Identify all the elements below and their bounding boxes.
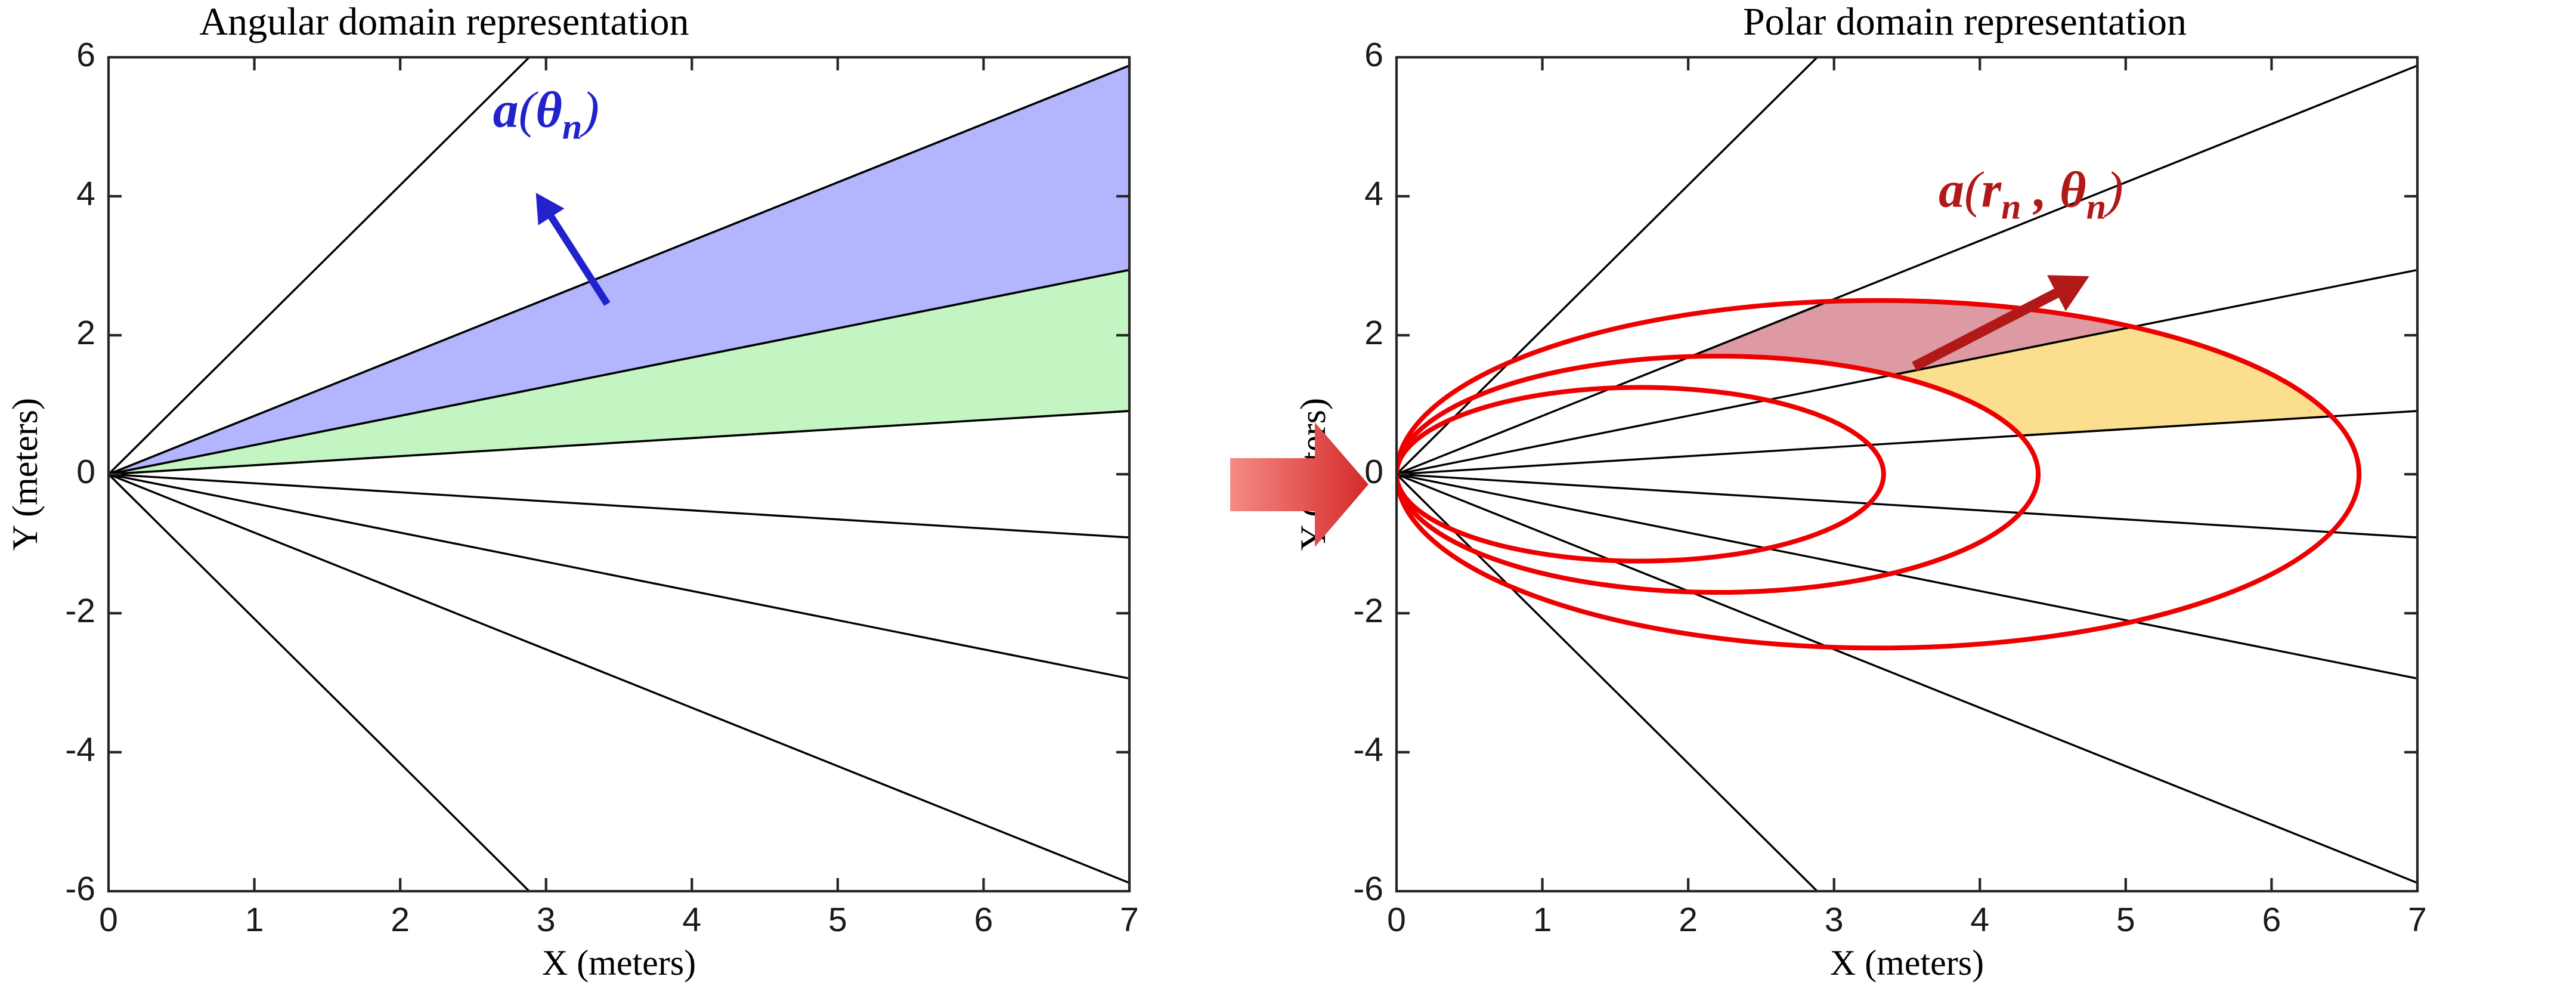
x-tick-label-6: 6 xyxy=(2262,901,2281,939)
x-tick-label-1: 1 xyxy=(1533,901,1552,939)
x-tick-label-4: 4 xyxy=(682,901,701,939)
x-tick-label-3: 3 xyxy=(1825,901,1844,939)
y-tick-label-4: 2 xyxy=(76,314,95,352)
x-tick-label-5: 5 xyxy=(2116,901,2135,939)
y-tick-label-5: 4 xyxy=(76,175,95,213)
polar-domain-plot: Polar domain representation 01234567-6-4… xyxy=(1288,0,2576,995)
ray-7 xyxy=(1397,474,1817,891)
ray-7 xyxy=(109,474,529,891)
ray-6 xyxy=(109,474,1129,883)
x-tick-label-7: 7 xyxy=(2408,901,2427,939)
polar-steering-vector-label: a(rn , θn) xyxy=(1939,160,2123,226)
angular-domain-plot: Angular domain representation 01234567-6… xyxy=(0,0,1288,995)
ray-0 xyxy=(1397,57,1817,474)
angular-steering-vector-label: a(θn) xyxy=(493,81,599,147)
y-tick-label-1: -4 xyxy=(1353,731,1383,769)
y-tick-label-6: 6 xyxy=(1364,36,1383,74)
y-tick-label-1: -4 xyxy=(65,731,95,769)
x-tick-label-0: 0 xyxy=(99,901,118,939)
figure-root: Angular domain representation 01234567-6… xyxy=(0,0,2576,995)
transition-arrow xyxy=(1225,418,1371,552)
range-ring-0 xyxy=(1397,387,1884,561)
x-axis-title: X (meters) xyxy=(542,943,696,982)
x-tick-label-4: 4 xyxy=(1970,901,1989,939)
y-tick-label-5: 4 xyxy=(1364,175,1383,213)
plot-area xyxy=(109,57,1129,891)
plot-area xyxy=(1397,57,2417,891)
y-tick-label-3: 0 xyxy=(76,453,95,491)
x-tick-label-5: 5 xyxy=(828,901,847,939)
polar-plot-content: 01234567-6-4-20246X (meters)Y (meters)a(… xyxy=(1293,36,2427,982)
x-tick-label-6: 6 xyxy=(974,901,993,939)
y-axis-title: Y (meters) xyxy=(5,398,45,551)
x-tick-label-0: 0 xyxy=(1387,901,1406,939)
x-tick-label-7: 7 xyxy=(1120,901,1139,939)
polar-domain-panel: Polar domain representation 01234567-6-4… xyxy=(1288,0,2576,995)
ray-6 xyxy=(1397,474,2417,883)
y-tick-label-2: -2 xyxy=(65,592,95,630)
y-tick-label-0: -6 xyxy=(65,870,95,908)
x-tick-label-3: 3 xyxy=(537,901,556,939)
axis-frame xyxy=(1397,57,2417,891)
angular-panel-title: Angular domain representation xyxy=(199,0,689,44)
x-tick-label-2: 2 xyxy=(1679,901,1698,939)
y-tick-label-4: 2 xyxy=(1364,314,1383,352)
transition-arrow-shape xyxy=(1230,422,1368,547)
angular-domain-panel: Angular domain representation 01234567-6… xyxy=(0,0,1288,995)
y-tick-label-0: -6 xyxy=(1353,870,1383,908)
x-tick-label-1: 1 xyxy=(245,901,264,939)
angular-plot-content: 01234567-6-4-20246X (meters)Y (meters)a(… xyxy=(5,36,1139,982)
x-axis-title: X (meters) xyxy=(1830,943,1984,982)
y-tick-label-6: 6 xyxy=(76,36,95,74)
x-tick-label-2: 2 xyxy=(391,901,410,939)
y-tick-label-2: -2 xyxy=(1353,592,1383,630)
polar-panel-title: Polar domain representation xyxy=(1743,0,2187,44)
